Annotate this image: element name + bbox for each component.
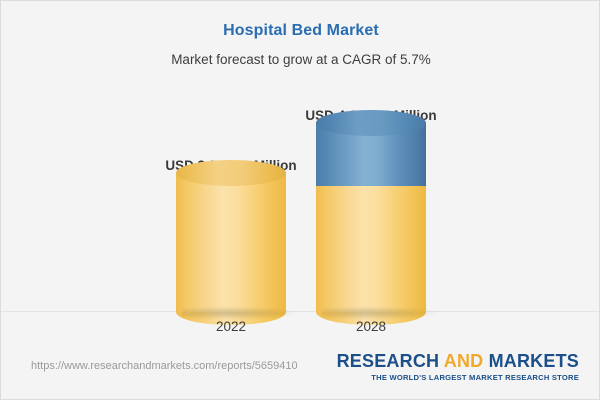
- logo-word-and: AND: [444, 351, 484, 371]
- axis-label-2022: 2022: [216, 319, 246, 334]
- chart-card: Hospital Bed Market Market forecast to g…: [0, 0, 600, 400]
- chart-subtitle: Market forecast to grow at a CAGR of 5.7…: [1, 52, 600, 67]
- cylinder-segment-base-2028: [316, 186, 426, 312]
- chart-footer: https://www.researchandmarkets.com/repor…: [1, 344, 600, 399]
- logo-tagline: THE WORLD'S LARGEST MARKET RESEARCH STOR…: [337, 373, 579, 382]
- cylinder-2028: [316, 186, 426, 312]
- cylinder-top-ellipse: [176, 160, 286, 186]
- source-url[interactable]: https://www.researchandmarkets.com/repor…: [31, 360, 298, 372]
- axis-baseline: [1, 311, 600, 312]
- cylinder-top-ellipse: [316, 110, 426, 136]
- cylinder-body: [176, 173, 286, 312]
- cylinder-segment-growth-2028: [316, 123, 426, 186]
- logo-word-research: RESEARCH: [337, 351, 440, 371]
- chart-title: Hospital Bed Market: [1, 22, 600, 40]
- cylinder-2022: [176, 173, 286, 312]
- cylinder-body: [316, 186, 426, 312]
- research-and-markets-logo[interactable]: RESEARCH AND MARKETS THE WORLD'S LARGEST…: [337, 352, 579, 382]
- plot-area: USD 3,214.96 Million 2022 USD 4,688.96 M…: [1, 81, 600, 336]
- cylinder-segment-base-2022: [176, 173, 286, 312]
- logo-wordmark: RESEARCH AND MARKETS: [337, 352, 579, 371]
- axis-label-2028: 2028: [356, 319, 386, 334]
- logo-word-markets: MARKETS: [489, 351, 579, 371]
